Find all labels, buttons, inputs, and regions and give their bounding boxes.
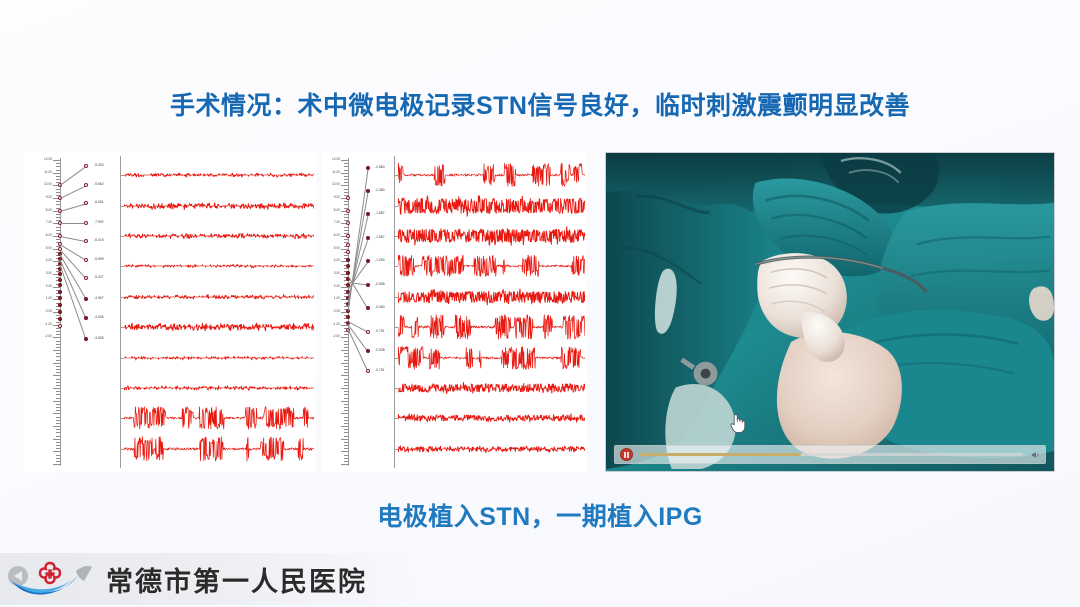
signal-trace — [398, 222, 585, 250]
axis-tick-label: 10.00 — [322, 183, 340, 186]
axis-tick — [344, 366, 348, 367]
callout-value: -5.027 — [94, 276, 104, 279]
callout-value: -9.200 — [94, 164, 104, 167]
axis-tick — [56, 455, 60, 456]
axis-tick — [341, 185, 348, 186]
axis-tick — [344, 201, 348, 202]
depth-marker — [346, 264, 350, 268]
axis-tick-label: 8.00 — [26, 209, 52, 212]
axis-tick — [56, 192, 60, 193]
trace-axis-tick — [120, 388, 124, 389]
axis-tick — [344, 347, 348, 348]
depth-axis-panel-right: 12.0011.0010.009.008.007.006.005.004.003… — [322, 152, 394, 472]
callout-value: -0.538 — [375, 349, 385, 352]
callout-marker — [366, 306, 370, 310]
axis-tick — [53, 439, 60, 440]
mer-chart-left: 12.0011.0010.009.008.007.006.005.004.003… — [24, 152, 316, 472]
trace-axis-tick — [120, 358, 124, 359]
callout-value: -9.662 — [94, 183, 104, 186]
axis-tick — [56, 176, 60, 177]
video-player[interactable] — [605, 152, 1055, 472]
callout-marker — [366, 330, 370, 334]
axis-tick — [344, 170, 348, 171]
axis-tick — [341, 173, 348, 174]
depth-marker — [346, 250, 350, 254]
depth-marker — [58, 303, 62, 307]
axis-tick — [344, 192, 348, 193]
callout-marker — [366, 259, 370, 263]
axis-tick — [344, 341, 348, 342]
signal-trace-panel-right — [394, 152, 587, 472]
axis-tick — [344, 189, 348, 190]
callout-value: -8.061 — [94, 201, 104, 204]
depth-marker — [346, 243, 350, 247]
depth-marker — [346, 221, 350, 225]
axis-tick — [344, 420, 348, 421]
axis-tick-label: 3.00 — [322, 272, 340, 275]
axis-tick — [344, 372, 348, 373]
axis-tick — [56, 445, 60, 446]
callout-value: -1.887 — [375, 212, 385, 215]
axis-tick — [53, 375, 60, 376]
axis-tick — [344, 410, 348, 411]
speaker-icon[interactable] — [1030, 450, 1040, 460]
mer-chart-right: 12.0011.0010.009.008.007.006.005.004.003… — [322, 152, 587, 472]
callout-value: -0.751 — [375, 369, 385, 372]
depth-marker — [58, 324, 62, 328]
callout-leader-line — [60, 185, 86, 198]
axis-tick — [344, 404, 348, 405]
signal-trace — [398, 192, 585, 220]
signal-trace — [124, 374, 314, 402]
signal-trace — [398, 374, 585, 402]
callout-marker — [84, 239, 88, 243]
axis-tick-label: 7.00 — [26, 221, 52, 224]
callout-value: -0.751 — [375, 330, 385, 333]
callout-marker — [366, 166, 370, 170]
axis-tick-label: -2.00 — [322, 335, 340, 338]
callout-leader-line — [60, 203, 86, 211]
axis-tick-label: 4.00 — [322, 259, 340, 262]
axis-tick — [56, 420, 60, 421]
callout-value: -4.597 — [94, 297, 104, 300]
axis-tick — [53, 388, 60, 389]
axis-tick — [56, 353, 60, 354]
axis-tick — [344, 353, 348, 354]
axis-tick-label: 7.00 — [322, 221, 340, 224]
depth-marker — [58, 278, 62, 282]
trace-axis-tick — [120, 449, 124, 450]
axis-tick — [56, 322, 60, 323]
axis-tick — [56, 163, 60, 164]
callout-marker — [84, 221, 88, 225]
signal-trace — [398, 252, 585, 280]
axis-tick — [341, 375, 348, 376]
axis-tick — [344, 334, 348, 335]
trace-axis-line — [394, 156, 395, 468]
signal-trace — [124, 192, 314, 220]
callout-marker — [366, 236, 370, 240]
axis-tick — [344, 230, 348, 231]
axis-tick-label: 12.00 — [322, 158, 340, 161]
axis-tick — [56, 410, 60, 411]
axis-tick — [344, 214, 348, 215]
depth-marker — [58, 283, 62, 287]
axis-tick — [344, 217, 348, 218]
signal-trace — [124, 283, 314, 311]
trace-axis-tick — [394, 236, 398, 237]
footer-hospital-logo: 常德市第一人民医院 — [0, 553, 420, 605]
axis-tick — [341, 464, 348, 465]
axis-tick — [344, 176, 348, 177]
callout-marker — [84, 164, 88, 168]
axis-tick-label: 3.00 — [26, 272, 52, 275]
axis-tick — [344, 436, 348, 437]
axis-tick — [53, 160, 60, 161]
callout-value: -1.094 — [375, 259, 385, 262]
axis-tick-label: 11.00 — [26, 171, 52, 174]
axis-tick — [56, 391, 60, 392]
signal-trace — [398, 313, 585, 341]
axis-tick-label: 1.00 — [322, 297, 340, 300]
axis-tick — [56, 407, 60, 408]
axis-tick — [344, 398, 348, 399]
axis-tick — [344, 448, 348, 449]
depth-axis-panel-left: 12.0011.0010.009.008.007.006.005.004.003… — [24, 152, 120, 472]
axis-tick — [341, 350, 348, 351]
axis-tick-label: 5.00 — [322, 247, 340, 250]
signal-trace — [124, 344, 314, 372]
callout-marker — [84, 276, 88, 280]
axis-tick-label: -1.00 — [322, 323, 340, 326]
axis-tick — [56, 230, 60, 231]
trace-axis-tick — [394, 327, 398, 328]
axis-tick-label: 8.00 — [322, 209, 340, 212]
axis-tick — [56, 166, 60, 167]
axis-tick — [56, 356, 60, 357]
trace-axis-tick — [394, 358, 398, 359]
callout-leader-line — [348, 324, 368, 352]
axis-tick — [56, 227, 60, 228]
axis-tick — [56, 448, 60, 449]
axis-tick — [344, 227, 348, 228]
axis-tick — [56, 417, 60, 418]
axis-tick — [56, 347, 60, 348]
signal-trace — [124, 161, 314, 189]
callout-marker — [84, 201, 88, 205]
axis-tick — [53, 413, 60, 414]
axis-tick — [56, 372, 60, 373]
axis-tick — [53, 426, 60, 427]
axis-tick — [56, 442, 60, 443]
callout-value: -7.992 — [94, 221, 104, 224]
callout-value: -0.598 — [375, 283, 385, 286]
axis-tick — [341, 160, 348, 161]
axis-tick — [341, 439, 348, 440]
callout-marker — [84, 297, 88, 301]
slide-caption: 电极植入STN，一期植入IPG — [0, 497, 1080, 533]
callout-leader-line — [60, 166, 86, 185]
axis-tick — [344, 423, 348, 424]
axis-tick — [341, 388, 348, 389]
callout-marker — [366, 283, 370, 287]
axis-tick-label: 11.00 — [322, 171, 340, 174]
signal-trace — [124, 435, 314, 463]
axis-tick-label: 5.00 — [26, 247, 52, 250]
axis-tick — [344, 391, 348, 392]
axis-tick-label: 0.00 — [322, 310, 340, 313]
callout-marker — [366, 369, 370, 373]
callout-marker — [84, 316, 88, 320]
depth-marker — [346, 258, 350, 262]
video-progress-slider[interactable] — [640, 453, 1023, 456]
axis-tick — [344, 163, 348, 164]
depth-marker — [346, 234, 350, 238]
axis-tick — [344, 356, 348, 357]
callout-leader-line — [60, 223, 86, 224]
signal-trace — [124, 313, 314, 341]
trace-axis-tick — [120, 175, 124, 176]
axis-tick — [344, 458, 348, 459]
axis-tick — [53, 337, 60, 338]
trace-axis-tick — [394, 418, 398, 419]
axis-tick-label: 2.00 — [322, 285, 340, 288]
callout-marker — [84, 183, 88, 187]
axis-tick — [53, 401, 60, 402]
axis-tick-label: -1.00 — [26, 323, 52, 326]
callout-value: -3.505 — [94, 337, 104, 340]
page-title: 手术情况：术中微电极记录STN信号良好，临时刺激震颤明显改善 — [0, 86, 1080, 122]
depth-marker — [58, 290, 62, 294]
axis-tick — [56, 214, 60, 215]
axis-tick — [53, 464, 60, 465]
depth-marker — [346, 209, 350, 213]
axis-tick-label: 6.00 — [322, 234, 340, 237]
axis-tick — [344, 394, 348, 395]
axis-tick — [344, 166, 348, 167]
signal-trace — [398, 161, 585, 189]
axis-tick — [56, 201, 60, 202]
axis-tick — [56, 334, 60, 335]
trace-axis-tick — [120, 236, 124, 237]
axis-tick-label: 4.00 — [26, 259, 52, 262]
axis-tick — [344, 407, 348, 408]
callout-marker — [366, 212, 370, 216]
callout-marker — [84, 258, 88, 262]
axis-tick — [341, 401, 348, 402]
signal-trace — [398, 404, 585, 432]
trace-axis-tick — [394, 449, 398, 450]
axis-tick — [56, 179, 60, 180]
axis-tick — [341, 363, 348, 364]
axis-tick — [344, 382, 348, 383]
axis-tick-label: 9.00 — [26, 196, 52, 199]
axis-tick — [344, 344, 348, 345]
trace-axis-tick — [394, 388, 398, 389]
trace-axis-tick — [120, 206, 124, 207]
callout-value: -5.599 — [94, 258, 104, 261]
callout-value: -4.006 — [94, 316, 104, 319]
signal-trace — [124, 252, 314, 280]
axis-tick — [56, 458, 60, 459]
trace-axis-tick — [120, 297, 124, 298]
callout-value: -0.084 — [375, 306, 385, 309]
trace-axis-tick — [120, 418, 124, 419]
callout-marker — [366, 349, 370, 353]
signal-trace — [398, 283, 585, 311]
axis-tick — [56, 429, 60, 430]
signal-trace — [398, 344, 585, 372]
trace-axis-tick — [120, 266, 124, 267]
trace-axis-tick — [120, 327, 124, 328]
callout-value: -2.884 — [375, 166, 385, 169]
depth-marker — [58, 317, 62, 321]
video-progress-fill — [640, 453, 801, 456]
axis-tick — [56, 170, 60, 171]
axis-tick — [344, 385, 348, 386]
axis-tick — [344, 182, 348, 183]
axis-tick — [341, 426, 348, 427]
axis-tick — [56, 239, 60, 240]
axis-tick — [53, 451, 60, 452]
callout-marker — [366, 189, 370, 193]
callout-value: -6.019 — [94, 239, 104, 242]
axis-tick — [56, 379, 60, 380]
axis-tick — [56, 344, 60, 345]
axis-tick — [53, 350, 60, 351]
axis-tick — [344, 455, 348, 456]
axis-tick — [53, 173, 60, 174]
axis-tick — [341, 451, 348, 452]
axis-tick-label: 1.00 — [26, 297, 52, 300]
trace-axis-tick — [394, 266, 398, 267]
signal-trace-panel-left — [120, 152, 316, 472]
depth-marker — [346, 196, 350, 200]
axis-tick — [56, 369, 60, 370]
axis-tick — [341, 337, 348, 338]
axis-tick — [56, 331, 60, 332]
axis-tick — [344, 379, 348, 380]
axis-tick-label: 9.00 — [322, 196, 340, 199]
axis-tick — [56, 394, 60, 395]
axis-tick-label: 10.00 — [26, 183, 52, 186]
trace-axis-line — [120, 156, 121, 468]
callout-leader-line — [60, 259, 87, 318]
depth-marker — [58, 310, 62, 314]
axis-tick — [56, 328, 60, 329]
axis-tick — [56, 385, 60, 386]
axis-tick — [344, 445, 348, 446]
axis-tick — [56, 217, 60, 218]
trace-axis-tick — [394, 297, 398, 298]
hospital-name: 常德市第一人民医院 — [106, 560, 367, 599]
axis-tick — [56, 404, 60, 405]
callout-value: -1.567 — [375, 236, 385, 239]
axis-tick — [344, 239, 348, 240]
callout-leader-line — [60, 236, 86, 242]
axis-tick — [344, 360, 348, 361]
depth-marker — [58, 296, 62, 300]
trace-axis-tick — [394, 175, 398, 176]
axis-tick — [56, 436, 60, 437]
axis-tick — [56, 461, 60, 462]
depth-marker — [346, 315, 350, 319]
axis-tick — [56, 341, 60, 342]
axis-tick — [344, 417, 348, 418]
axis-tick — [344, 204, 348, 205]
axis-tick — [56, 189, 60, 190]
axis-tick-label: 12.00 — [26, 158, 52, 161]
video-frame — [606, 153, 1054, 471]
signal-trace — [124, 222, 314, 250]
axis-tick-label: 2.00 — [26, 285, 52, 288]
axis-tick — [56, 423, 60, 424]
axis-tick — [53, 363, 60, 364]
axis-tick — [56, 382, 60, 383]
axis-tick — [344, 429, 348, 430]
axis-tick — [344, 442, 348, 443]
callout-value: -2.384 — [375, 189, 385, 192]
axis-tick — [56, 204, 60, 205]
signal-trace — [398, 435, 585, 463]
axis-tick — [344, 461, 348, 462]
axis-tick — [56, 398, 60, 399]
axis-tick — [56, 360, 60, 361]
trace-axis-tick — [394, 206, 398, 207]
axis-tick — [56, 366, 60, 367]
axis-tick — [344, 255, 348, 256]
axis-tick — [344, 432, 348, 433]
signal-trace — [124, 404, 314, 432]
hospital-emblem-icon — [4, 557, 100, 601]
callout-marker — [84, 337, 88, 341]
axis-tick-label: 0.00 — [26, 310, 52, 313]
axis-tick-label: -2.00 — [26, 335, 52, 338]
axis-tick-label: 6.00 — [26, 234, 52, 237]
axis-tick — [56, 432, 60, 433]
video-controls-bar[interactable] — [614, 445, 1046, 464]
depth-marker — [58, 272, 62, 276]
axis-tick — [341, 413, 348, 414]
axis-tick — [344, 369, 348, 370]
axis-tick — [344, 179, 348, 180]
pause-button[interactable] — [620, 448, 633, 461]
